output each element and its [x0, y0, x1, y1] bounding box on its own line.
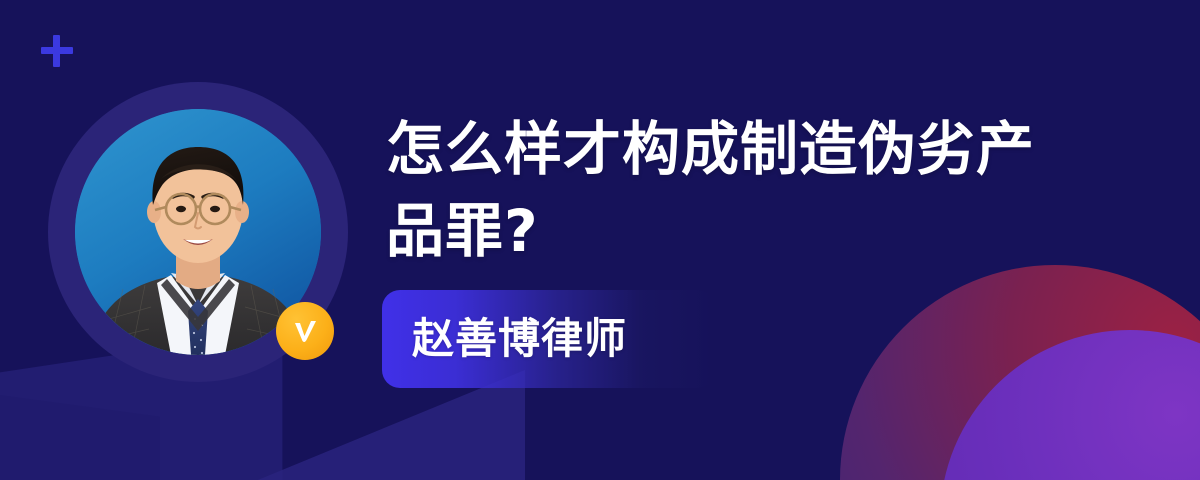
headline-block: 怎么样才构成制造伪劣产品罪? [386, 108, 1086, 272]
verified-v-icon [276, 302, 334, 360]
promo-banner: 怎么样才构成制造伪劣产品罪? 赵善博律师 [0, 0, 1200, 480]
gradient-arc-purple-icon [940, 330, 1200, 480]
avatar [48, 82, 348, 382]
lawyer-name-label: 赵善博律师 [412, 318, 627, 360]
plus-icon [40, 34, 74, 68]
gradient-arc-red-icon [840, 265, 1200, 480]
lawyer-name-button[interactable]: 赵善博律师 [382, 290, 716, 388]
diagonal-polygon-corner [0, 395, 160, 480]
page-title: 怎么样才构成制造伪劣产品罪? [386, 108, 1076, 272]
